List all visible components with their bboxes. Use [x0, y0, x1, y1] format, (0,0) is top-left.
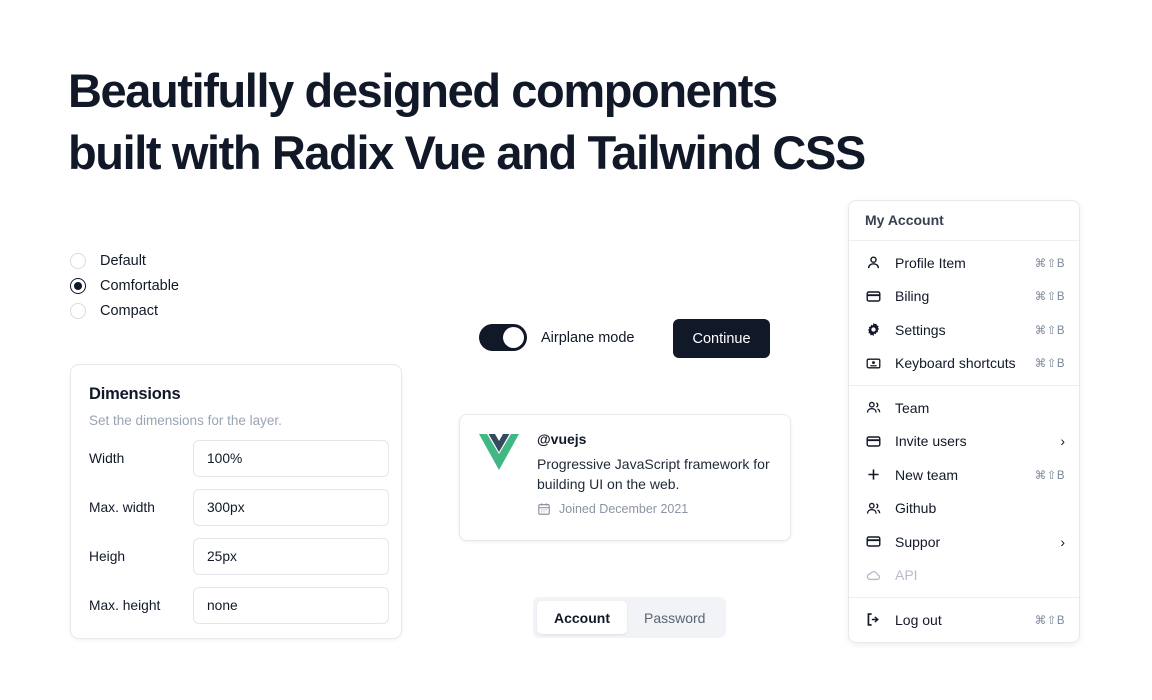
field-label: Max. width: [89, 500, 193, 515]
menu-item-shortcut: ⌘⇧B: [1035, 256, 1065, 270]
cloud-icon: [865, 567, 881, 583]
menu-item-label: Github: [895, 500, 1065, 516]
menu-item-label: Team: [895, 400, 1065, 416]
dimensions-subtitle: Set the dimensions for the layer.: [89, 413, 383, 428]
menu-item-label: Profile Item: [895, 255, 1035, 271]
menu-item-label: Keyboard shortcuts: [895, 355, 1035, 371]
vue-logo-icon: [479, 434, 519, 471]
calendar-icon: [537, 502, 551, 516]
height-input[interactable]: [193, 538, 389, 575]
menu-item-support[interactable]: Suppor ›: [849, 525, 1079, 559]
menu-item-api: API: [849, 559, 1079, 593]
menu-item-settings[interactable]: Settings ⌘⇧B: [849, 313, 1079, 347]
credit-card-icon: [865, 288, 881, 304]
radio-label: Comfortable: [100, 278, 179, 294]
continue-button[interactable]: Continue: [673, 319, 770, 358]
vue-handle: @vuejs: [537, 431, 779, 447]
field-label: Heigh: [89, 549, 193, 564]
vue-hover-card: @vuejs Progressive JavaScript framework …: [459, 414, 791, 541]
menu-item-shortcut: ⌘⇧B: [1035, 323, 1065, 337]
vue-hover-card-body: @vuejs Progressive JavaScript framework …: [537, 431, 779, 540]
vue-description: Progressive JavaScript framework for bui…: [537, 454, 779, 494]
airplane-mode-switch[interactable]: [479, 324, 527, 351]
settings-tabs: Account Password: [533, 597, 726, 638]
users-icon: [865, 500, 881, 516]
page-title-line-2: built with Radix Vue and Tailwind CSS: [68, 122, 1028, 184]
menu-item-log-out[interactable]: Log out ⌘⇧B: [849, 603, 1079, 637]
max-height-input[interactable]: [193, 587, 389, 624]
plus-icon: [865, 467, 881, 483]
menu-item-shortcut: ⌘⇧B: [1035, 613, 1065, 627]
page-title: Beautifully designed components built wi…: [68, 60, 1028, 184]
menu-group-account: Profile Item ⌘⇧B Biling ⌘⇧B: [849, 241, 1079, 385]
menu-item-github[interactable]: Github: [849, 492, 1079, 526]
field-label: Width: [89, 451, 193, 466]
menu-item-team[interactable]: Team: [849, 391, 1079, 425]
vue-joined-row: Joined December 2021: [537, 502, 779, 516]
logout-icon: [865, 612, 881, 628]
gear-icon: [865, 322, 881, 338]
menu-item-shortcut: ⌘⇧B: [1035, 468, 1065, 482]
tab-password[interactable]: Password: [627, 601, 722, 634]
radio-circle-icon: [70, 303, 86, 319]
radio-option-compact[interactable]: Compact: [70, 298, 179, 323]
chevron-right-icon: ›: [1060, 535, 1065, 549]
credit-card-icon: [865, 534, 881, 550]
radio-circle-icon: [70, 253, 86, 269]
dimensions-title: Dimensions: [89, 385, 383, 404]
menu-item-label: Invite users: [895, 433, 1060, 449]
users-icon: [865, 400, 881, 416]
keyboard-icon: [865, 355, 881, 371]
airplane-mode-label: Airplane mode: [541, 330, 635, 346]
menu-item-keyboard-shortcuts[interactable]: Keyboard shortcuts ⌘⇧B: [849, 347, 1079, 381]
menu-item-label: Suppor: [895, 534, 1060, 550]
dimensions-row-max-width: Max. width: [89, 489, 383, 526]
tab-account[interactable]: Account: [537, 601, 627, 634]
menu-item-invite-users[interactable]: Invite users ›: [849, 425, 1079, 459]
menu-item-billing[interactable]: Biling ⌘⇧B: [849, 280, 1079, 314]
dimensions-card: Dimensions Set the dimensions for the la…: [70, 364, 402, 639]
menu-item-label: API: [895, 567, 1065, 583]
vue-joined-text: Joined December 2021: [559, 502, 688, 516]
menu-header-label: My Account: [849, 201, 1079, 240]
menu-group-team: Team Invite users › New team: [849, 386, 1079, 597]
menu-item-shortcut: ⌘⇧B: [1035, 289, 1065, 303]
menu-item-shortcut: ⌘⇧B: [1035, 356, 1065, 370]
menu-item-label: Settings: [895, 322, 1035, 338]
dimensions-row-max-height: Max. height: [89, 587, 383, 624]
max-width-input[interactable]: [193, 489, 389, 526]
user-icon: [865, 255, 881, 271]
menu-item-new-team[interactable]: New team ⌘⇧B: [849, 458, 1079, 492]
menu-item-label: New team: [895, 467, 1035, 483]
menu-group-session: Log out ⌘⇧B: [849, 598, 1079, 642]
radio-label: Default: [100, 253, 146, 269]
switch-knob-icon: [503, 327, 524, 348]
chevron-right-icon: ›: [1060, 434, 1065, 448]
width-input[interactable]: [193, 440, 389, 477]
page-title-line-1: Beautifully designed components: [68, 60, 1028, 122]
radio-circle-filled-icon: [70, 278, 86, 294]
menu-item-label: Biling: [895, 288, 1035, 304]
credit-card-icon: [865, 433, 881, 449]
page-root: Beautifully designed components built wi…: [0, 0, 1152, 700]
dimensions-row-width: Width: [89, 440, 383, 477]
radio-label: Compact: [100, 303, 158, 319]
menu-item-profile[interactable]: Profile Item ⌘⇧B: [849, 246, 1079, 280]
airplane-mode-switch-row: Airplane mode: [479, 324, 635, 351]
radio-option-default[interactable]: Default: [70, 248, 179, 273]
account-dropdown-menu: My Account Profile Item ⌘⇧B Biling: [848, 200, 1080, 643]
density-radio-group: Default Comfortable Compact: [70, 248, 179, 323]
field-label: Max. height: [89, 598, 193, 613]
dimensions-row-height: Heigh: [89, 538, 383, 575]
radio-option-comfortable[interactable]: Comfortable: [70, 273, 179, 298]
menu-item-label: Log out: [895, 612, 1035, 628]
